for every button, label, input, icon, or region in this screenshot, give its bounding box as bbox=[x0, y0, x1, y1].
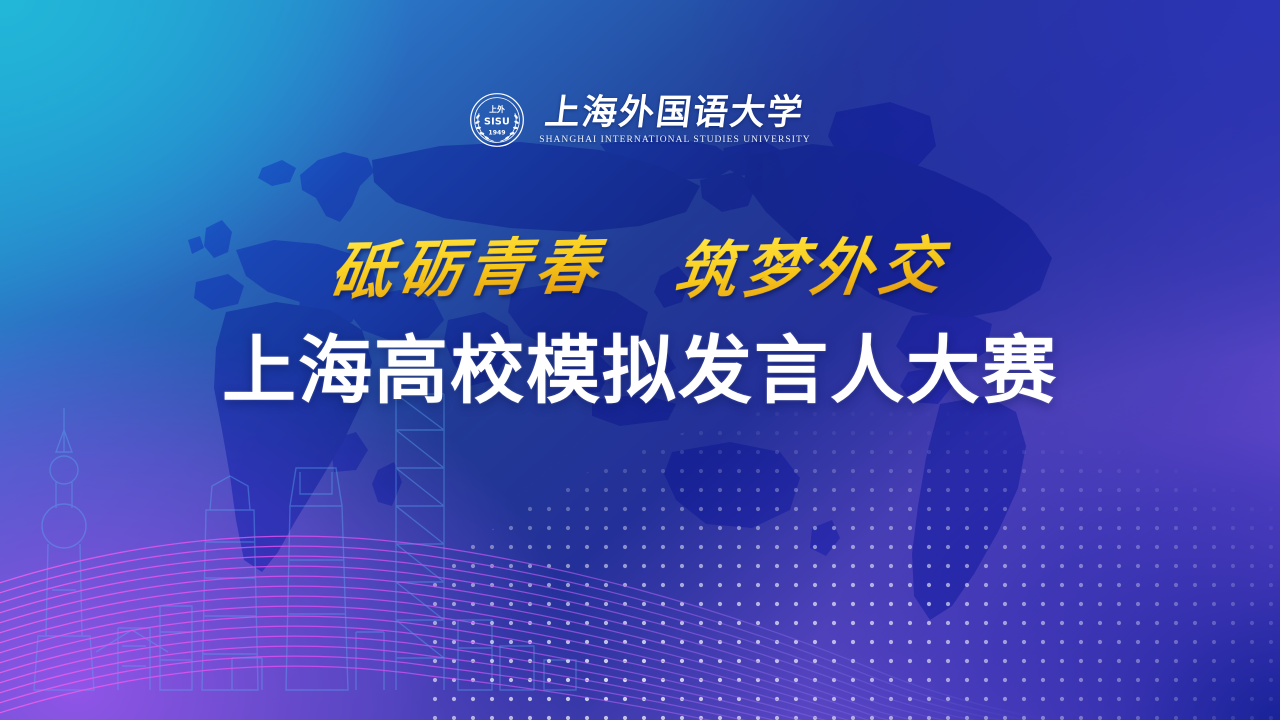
world-map-silhouette bbox=[0, 0, 1280, 720]
university-name-cn: 上海外国语大学 bbox=[543, 95, 807, 132]
slogan-part-2: 筑梦外交 bbox=[670, 215, 955, 311]
world-map-silhouette-overlay bbox=[0, 0, 1280, 720]
main-title-text: 上海高校模拟发言人大赛 bbox=[222, 334, 1058, 408]
dot-particle-field bbox=[430, 390, 1280, 720]
main-title: 上海高校模拟发言人大赛 bbox=[0, 334, 1280, 408]
logo-wordmark-block: 上海外国语大学 SHANGHAI INTERNATIONAL STUDIES U… bbox=[539, 95, 810, 146]
emblem-chinese-text: 上外 bbox=[489, 104, 505, 114]
emblem-year-text: 1949 bbox=[489, 130, 506, 137]
university-logo: 上外 SISU 1949 上海外国语大学 SHANGHAI INTERNATIO… bbox=[0, 92, 1280, 148]
gold-slogan: 砥砺青春 筑梦外交 bbox=[0, 218, 1280, 308]
sisu-circular-emblem: 上外 SISU 1949 bbox=[469, 92, 525, 148]
flowing-wave-lines bbox=[0, 460, 1050, 720]
university-name-en: SHANGHAI INTERNATIONAL STUDIES UNIVERSIT… bbox=[539, 135, 810, 145]
slogan-part-1: 砥砺青春 bbox=[325, 215, 610, 311]
poster-banner: 上外 SISU 1949 上海外国语大学 SHANGHAI INTERNATIO… bbox=[0, 0, 1280, 720]
emblem-sisu-text: SISU bbox=[484, 116, 510, 127]
shanghai-skyline-outline bbox=[0, 390, 640, 720]
